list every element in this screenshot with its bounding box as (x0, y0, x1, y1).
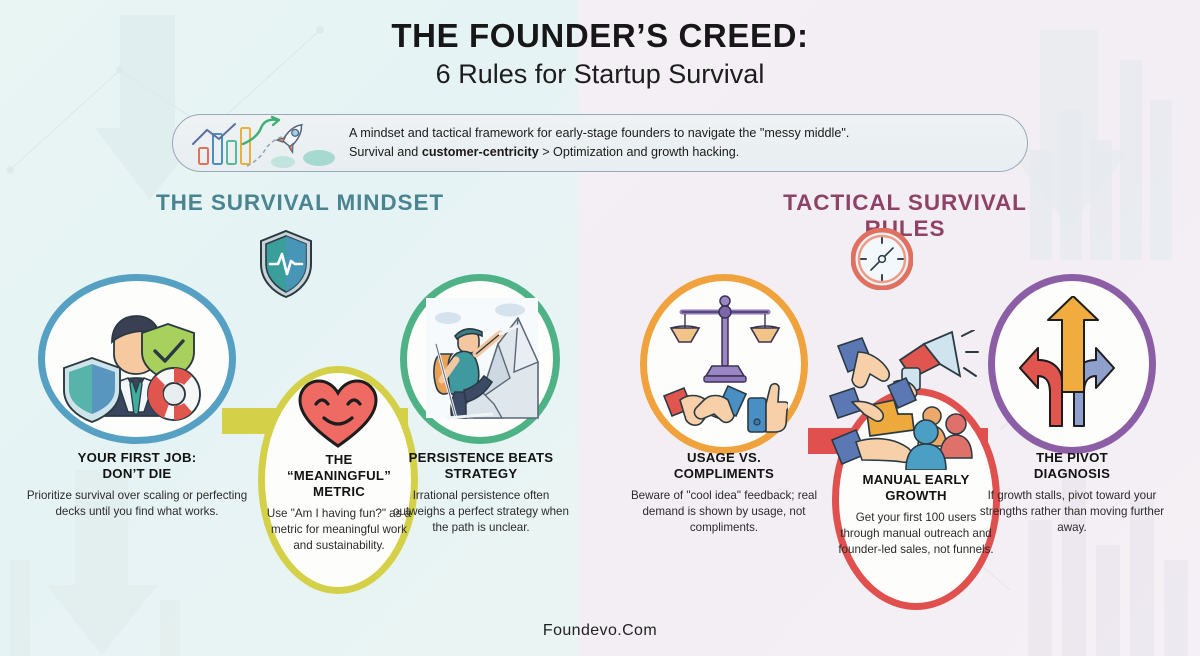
infographic-canvas: THE FOUNDER’S CREED: 6 Rules for Startup… (0, 0, 1200, 656)
rule-1-title-line-1: YOUR FIRST JOB: (18, 450, 256, 466)
rule-4-body: Beware of "cool idea" feedback; real dem… (628, 488, 820, 535)
rule-1-title: YOUR FIRST JOB: DON’T DIE (18, 450, 256, 482)
rule-1-text: YOUR FIRST JOB: DON’T DIE Prioritize sur… (18, 450, 256, 520)
rule-3-text: PERSISTENCE BEATS STRATEGY Irrational pe… (388, 450, 574, 535)
rule-3-title-line-1: PERSISTENCE BEATS (388, 450, 574, 466)
rule-1-body: Prioritize survival over scaling or perf… (18, 488, 256, 520)
rule-4-title-line-1: USAGE VS. (628, 450, 820, 466)
smiling-heart-icon (296, 378, 380, 450)
rule-6-text: THE PIVOT DIAGNOSIS If growth stalls, pi… (976, 450, 1168, 535)
rule-3-body: Irrational persistence often outweighs a… (388, 488, 574, 535)
three-way-arrows-icon (1018, 296, 1128, 428)
rule-3-title-line-2: STRATEGY (388, 466, 574, 482)
rule-6-title-line-1: THE PIVOT (976, 450, 1168, 466)
rule-5-title-line-1: MANUAL EARLY (838, 472, 994, 488)
footer-brand: Foundevo.Com (0, 622, 1200, 640)
scales-handshake-thumbsup-icon (662, 290, 788, 438)
rule-6-body: If growth stalls, pivot toward your stre… (976, 488, 1168, 535)
rule-5-title: MANUAL EARLY GROWTH (838, 472, 994, 504)
mountain-climber-icon (422, 292, 542, 424)
rule-6-title: THE PIVOT DIAGNOSIS (976, 450, 1168, 482)
rule-5-body: Get your first 100 users through manual … (838, 510, 994, 557)
megaphone-hands-people-icon (828, 330, 980, 470)
rule-5-text: MANUAL EARLY GROWTH Get your first 100 u… (838, 472, 994, 557)
rule-4-text: USAGE VS. COMPLIMENTS Beware of "cool id… (628, 450, 820, 535)
rule-5-title-line-2: GROWTH (838, 488, 994, 504)
rule-4-title: USAGE VS. COMPLIMENTS (628, 450, 820, 482)
rule-3-title: PERSISTENCE BEATS STRATEGY (388, 450, 574, 482)
rule-1-title-line-2: DON’T DIE (18, 466, 256, 482)
rule-6-title-line-2: DIAGNOSIS (976, 466, 1168, 482)
person-shield-lifering-icon (62, 296, 212, 424)
rule-4-title-line-2: COMPLIMENTS (628, 466, 820, 482)
